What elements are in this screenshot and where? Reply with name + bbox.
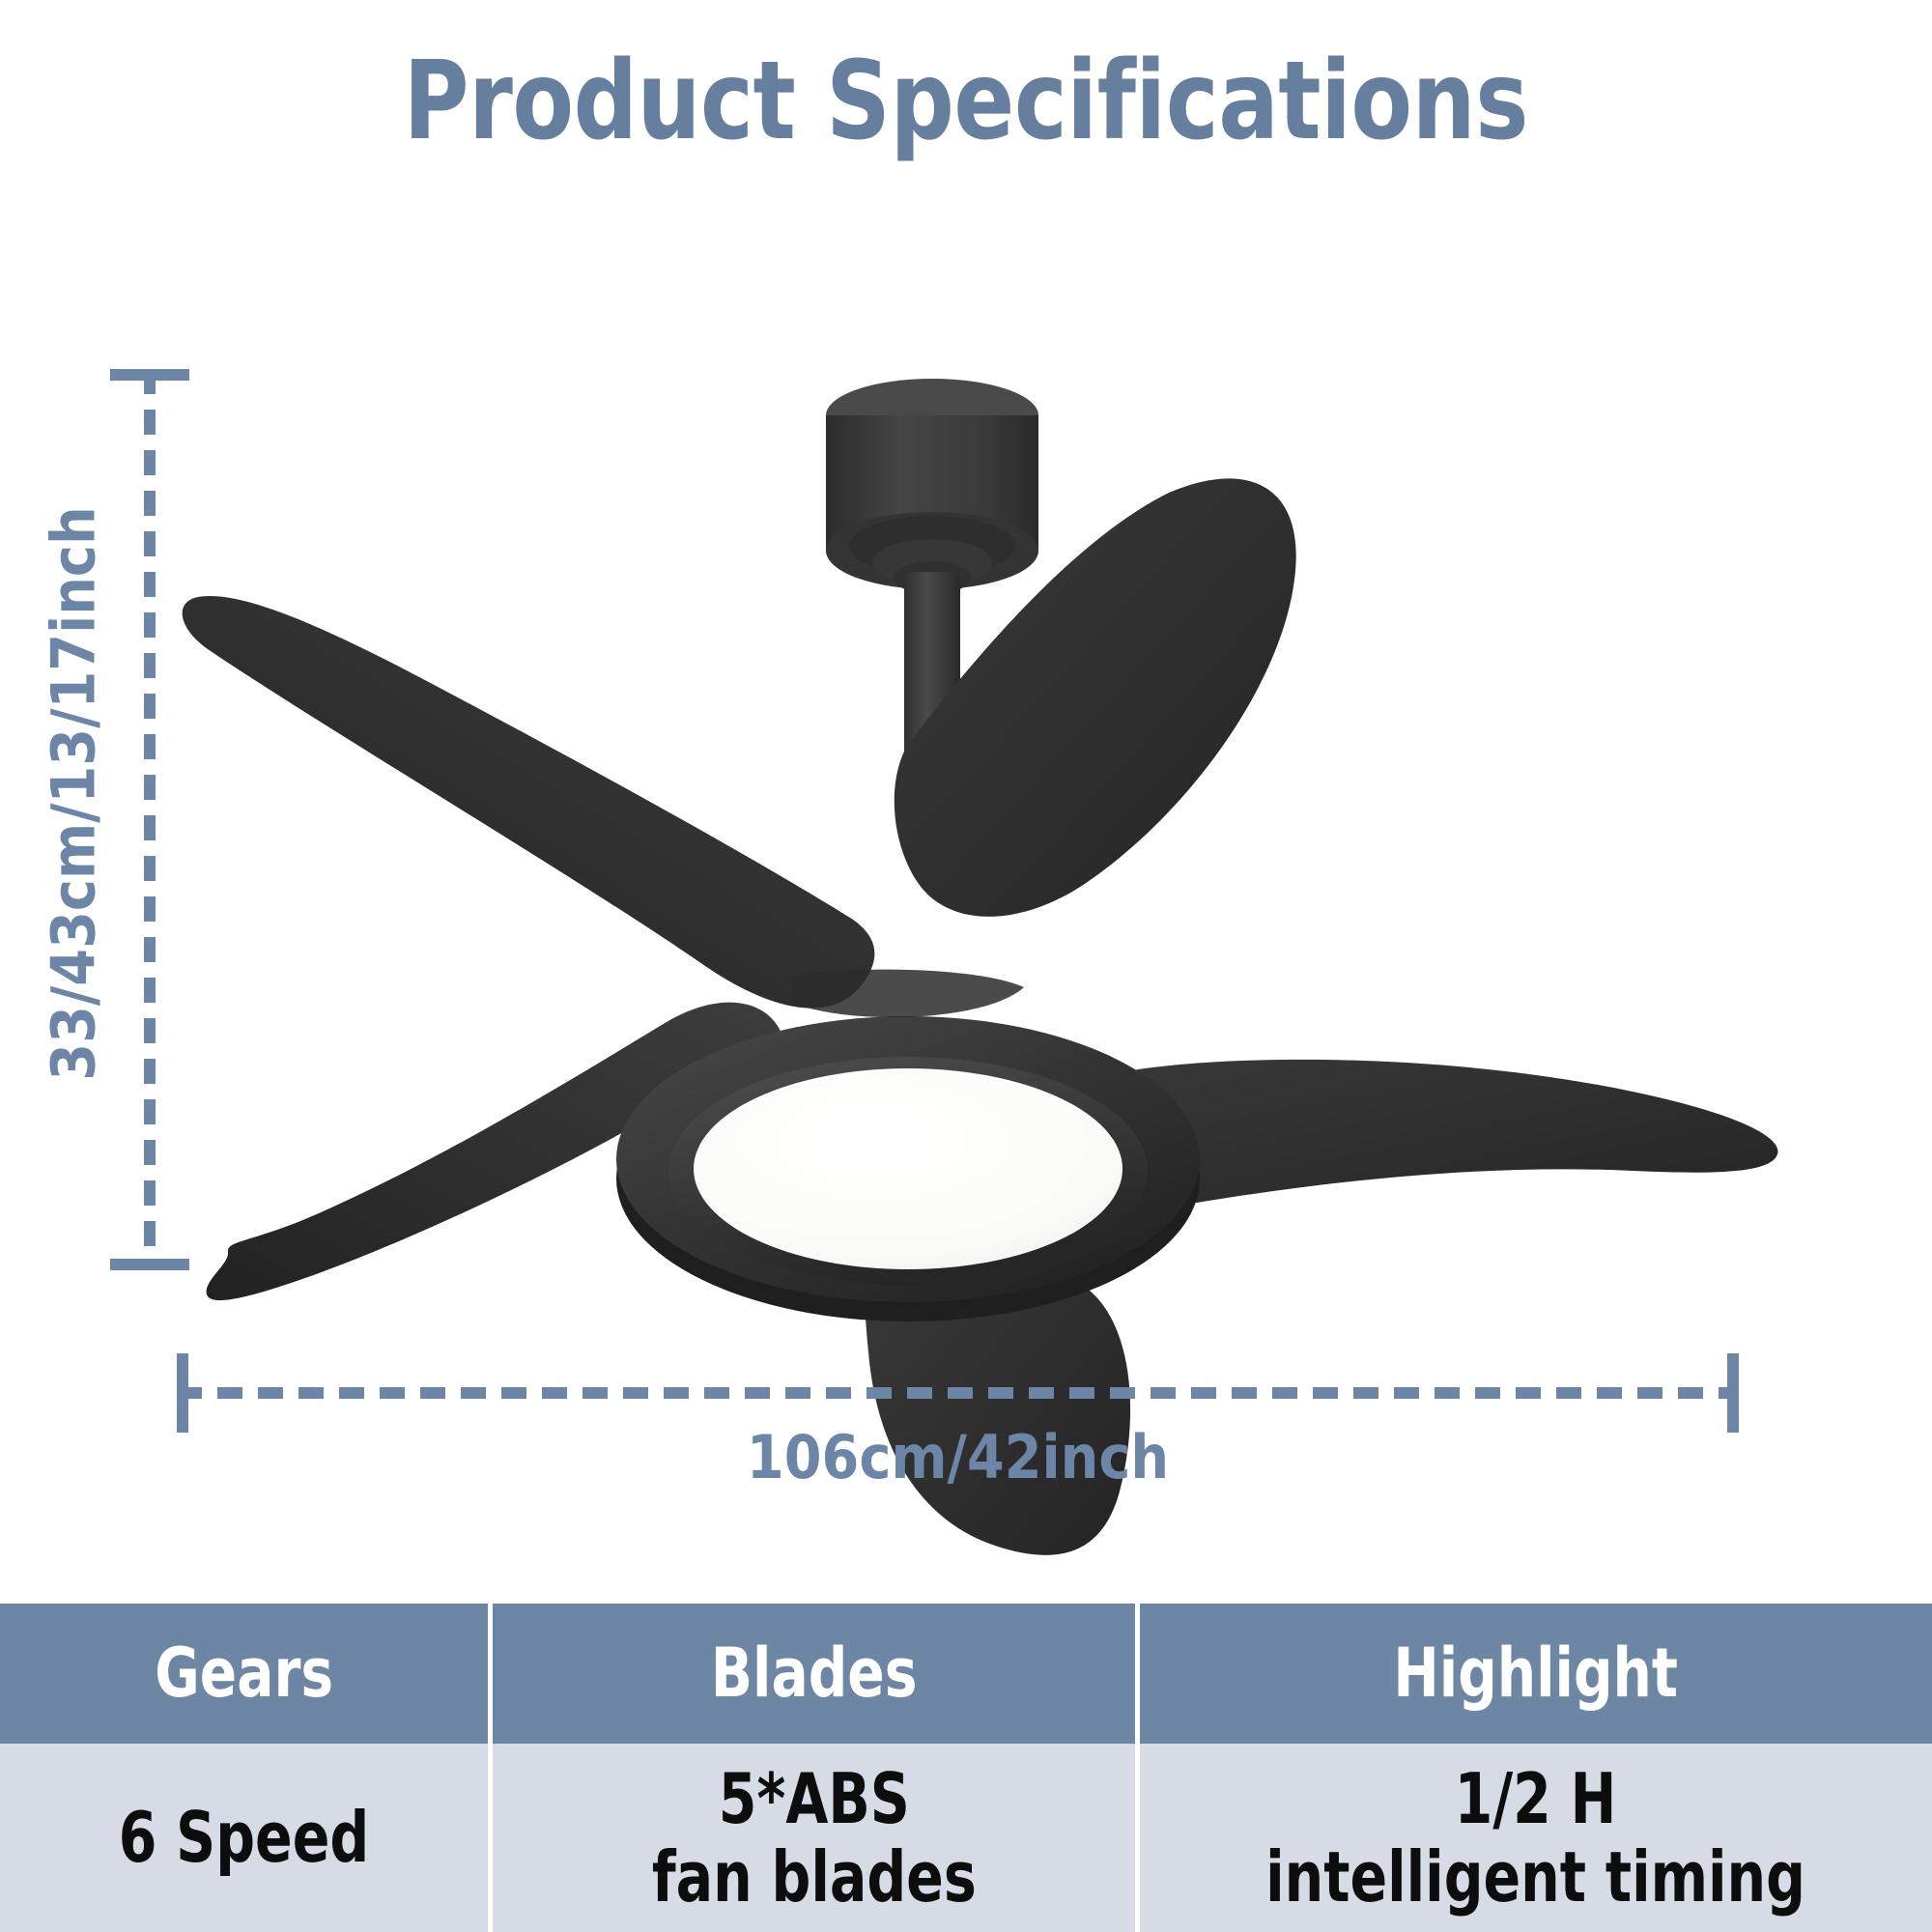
fan-canopy <box>826 379 1038 594</box>
spec-header-cell-gears: Gears <box>0 1604 488 1744</box>
spec-value-blades: 5*ABS fan blades <box>652 1760 977 1916</box>
specification-table: Gears Blades Highlight 6 Speed 5*ABS fan… <box>0 1604 1932 1932</box>
specification-table-header-row: Gears Blades Highlight <box>0 1604 1932 1744</box>
spec-value-gears: 6 Speed <box>119 1799 370 1877</box>
spec-value-highlight-line1: 1/2 H <box>1455 1758 1617 1839</box>
fan-blade-upper-left <box>183 596 875 1009</box>
height-dimension-cap-bottom <box>110 1259 189 1270</box>
spec-value-blades-line1: 5*ABS <box>718 1758 909 1839</box>
width-dimension-cap-left <box>177 1353 188 1433</box>
title-bar: Product Specifications <box>0 0 1932 203</box>
spec-value-highlight-line2: intelligent timing <box>1266 1838 1806 1917</box>
spec-value-cell-blades: 5*ABS fan blades <box>488 1744 1135 1932</box>
height-dimension-cap-top <box>110 369 189 381</box>
spec-header-label-highlight: Highlight <box>1394 1638 1679 1710</box>
height-dimension-line <box>144 369 156 1270</box>
spec-value-blades-line2: fan blades <box>652 1838 977 1917</box>
spec-header-cell-blades: Blades <box>488 1604 1135 1744</box>
spec-header-cell-highlight: Highlight <box>1135 1604 1932 1744</box>
spec-header-label-blades: Blades <box>711 1638 918 1710</box>
fan-hub-shoulder <box>792 970 1024 1018</box>
fan-motor-housing <box>616 1016 1200 1321</box>
width-dimension-label: 106cm/42inch <box>177 1422 1739 1492</box>
width-dimension-line <box>177 1387 1739 1399</box>
spec-value-cell-highlight: 1/2 H intelligent timing <box>1135 1744 1932 1932</box>
height-dimension-label: 33/43cm/13/17inch <box>39 427 109 1161</box>
spec-value-cell-gears: 6 Speed <box>0 1744 488 1932</box>
width-dimension-cap-right <box>1727 1353 1739 1433</box>
spec-value-highlight: 1/2 H intelligent timing <box>1266 1760 1806 1916</box>
specification-table-value-row: 6 Speed 5*ABS fan blades 1/2 H intellige… <box>0 1744 1932 1932</box>
page-title: Product Specifications <box>404 47 1528 156</box>
product-diagram: 33/43cm/13/17inch 106cm/42inch <box>0 203 1932 1594</box>
spec-header-label-gears: Gears <box>155 1638 333 1710</box>
spec-value-gears-line1: 6 Speed <box>119 1797 370 1878</box>
ceiling-fan-illustration <box>0 203 1932 1594</box>
